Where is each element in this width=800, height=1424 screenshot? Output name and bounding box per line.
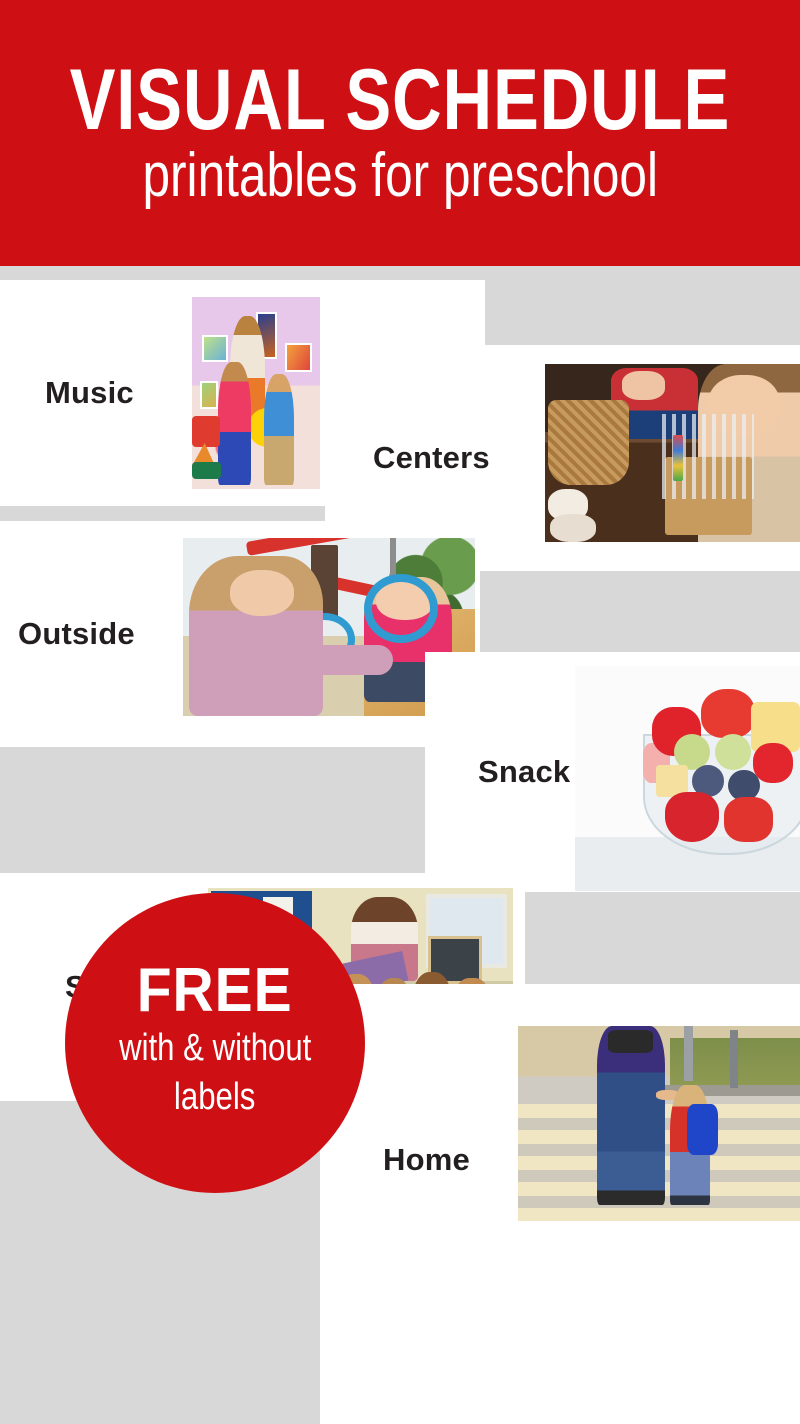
page-subtitle: printables for preschool [142,145,658,207]
card-photo-home [518,1026,800,1221]
card-label-outside: Outside [18,616,135,652]
schedule-card-board: Music Centers Outside [0,266,800,1200]
free-badge-headline: FREE [137,960,293,1022]
header-banner: VISUAL SCHEDULE printables for preschool [0,0,800,266]
card-photo-centers [545,364,800,542]
card-label-home: Home [383,1142,470,1178]
card-label-music: Music [45,375,134,411]
free-badge-line-1: with & without [119,1028,311,1069]
page-title: VISUAL SCHEDULE [70,59,731,142]
card-photo-snack [575,666,800,891]
free-badge: FREE with & without labels [65,893,365,1193]
card-label-snack: Snack [478,754,570,790]
card-photo-music [192,297,320,489]
card-label-centers: Centers [373,440,490,476]
free-badge-line-2: labels [174,1069,255,1126]
